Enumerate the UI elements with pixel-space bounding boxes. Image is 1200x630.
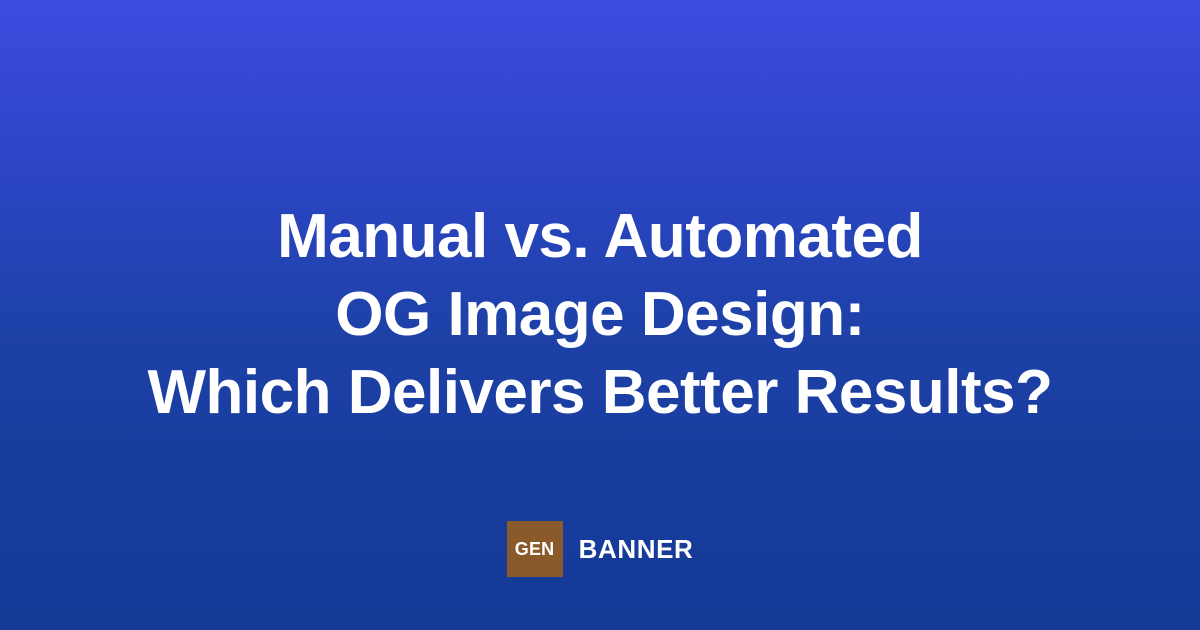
brand-badge-label: GEN: [515, 540, 555, 558]
brand-badge-icon: GEN: [507, 521, 563, 577]
headline-line-3: Which Delivers Better Results?: [148, 354, 1053, 432]
headline-line-1: Manual vs. Automated: [148, 198, 1053, 276]
headline-line-2: OG Image Design:: [148, 276, 1053, 354]
brand-lockup: GEN BANNER: [0, 521, 1200, 577]
page-title: Manual vs. Automated OG Image Design: Wh…: [88, 198, 1113, 432]
brand-wordmark: BANNER: [579, 536, 694, 562]
og-image-card: Manual vs. Automated OG Image Design: Wh…: [0, 0, 1200, 630]
